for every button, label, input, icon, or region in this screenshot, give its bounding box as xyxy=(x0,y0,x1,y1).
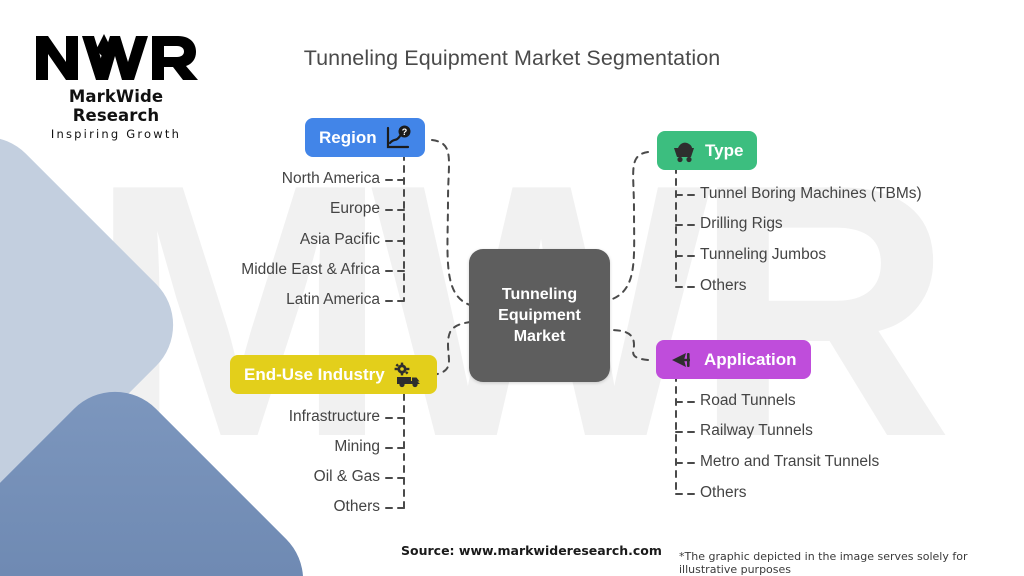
leaf-application-0: Road Tunnels xyxy=(700,392,796,410)
branch-label-region: Region xyxy=(319,128,377,148)
leaf-application-2: Metro and Transit Tunnels xyxy=(700,453,879,471)
leaf-region-1: Europe xyxy=(140,200,380,218)
leaf-type-0: Tunnel Boring Machines (TBMs) xyxy=(700,185,922,203)
leaf-type-3: Others xyxy=(700,277,747,295)
center-line-3: Market xyxy=(514,328,566,345)
leaf-application-1: Railway Tunnels xyxy=(700,422,813,440)
branch-badge-type[interactable]: Type xyxy=(657,131,757,170)
leaf-enduse-2: Oil & Gas xyxy=(160,468,380,486)
disclaimer-text: *The graphic depicted in the image serve… xyxy=(679,550,1024,576)
leaf-application-3: Others xyxy=(700,484,747,502)
leaf-enduse-3: Others xyxy=(160,498,380,516)
center-node-label: Tunneling Equipment Market xyxy=(498,284,581,348)
source-text: Source: www.markwideresearch.com xyxy=(401,543,662,558)
leaf-region-3: Middle East & Africa xyxy=(140,261,380,279)
branch-label-enduse: End-Use Industry xyxy=(244,365,385,385)
gear-truck-icon xyxy=(393,362,423,388)
leaf-region-0: North America xyxy=(140,170,380,188)
brand-logo: MarkWide Research Inspiring Growth xyxy=(26,28,206,141)
center-node: Tunneling Equipment Market xyxy=(469,249,610,382)
leaf-region-4: Latin America xyxy=(140,291,380,309)
branch-label-type: Type xyxy=(705,141,743,161)
logo-company-name: MarkWide Research xyxy=(26,87,206,125)
branch-badge-enduse[interactable]: End-Use Industry xyxy=(230,355,437,394)
branch-badge-application[interactable]: Application xyxy=(656,340,811,379)
page-title: Tunneling Equipment Market Segmentation xyxy=(0,46,1024,71)
leaf-type-1: Drilling Rigs xyxy=(700,215,783,233)
leaf-enduse-0: Infrastructure xyxy=(160,408,380,426)
logo-tagline: Inspiring Growth xyxy=(26,127,206,141)
center-line-1: Tunneling xyxy=(502,286,577,303)
branch-label-application: Application xyxy=(704,350,797,370)
leaf-enduse-1: Mining xyxy=(160,438,380,456)
mine-cart-icon xyxy=(671,139,697,163)
svg-text:?: ? xyxy=(401,127,407,137)
infographic-canvas: MWR MarkWide Research Inspiring Growth T… xyxy=(0,0,1024,576)
chart-question-icon: ? xyxy=(385,125,411,151)
airplane-icon xyxy=(670,348,696,372)
center-line-2: Equipment xyxy=(498,307,581,324)
branch-badge-region[interactable]: Region ? xyxy=(305,118,425,157)
leaf-type-2: Tunneling Jumbos xyxy=(700,246,826,264)
leaf-region-2: Asia Pacific xyxy=(140,231,380,249)
